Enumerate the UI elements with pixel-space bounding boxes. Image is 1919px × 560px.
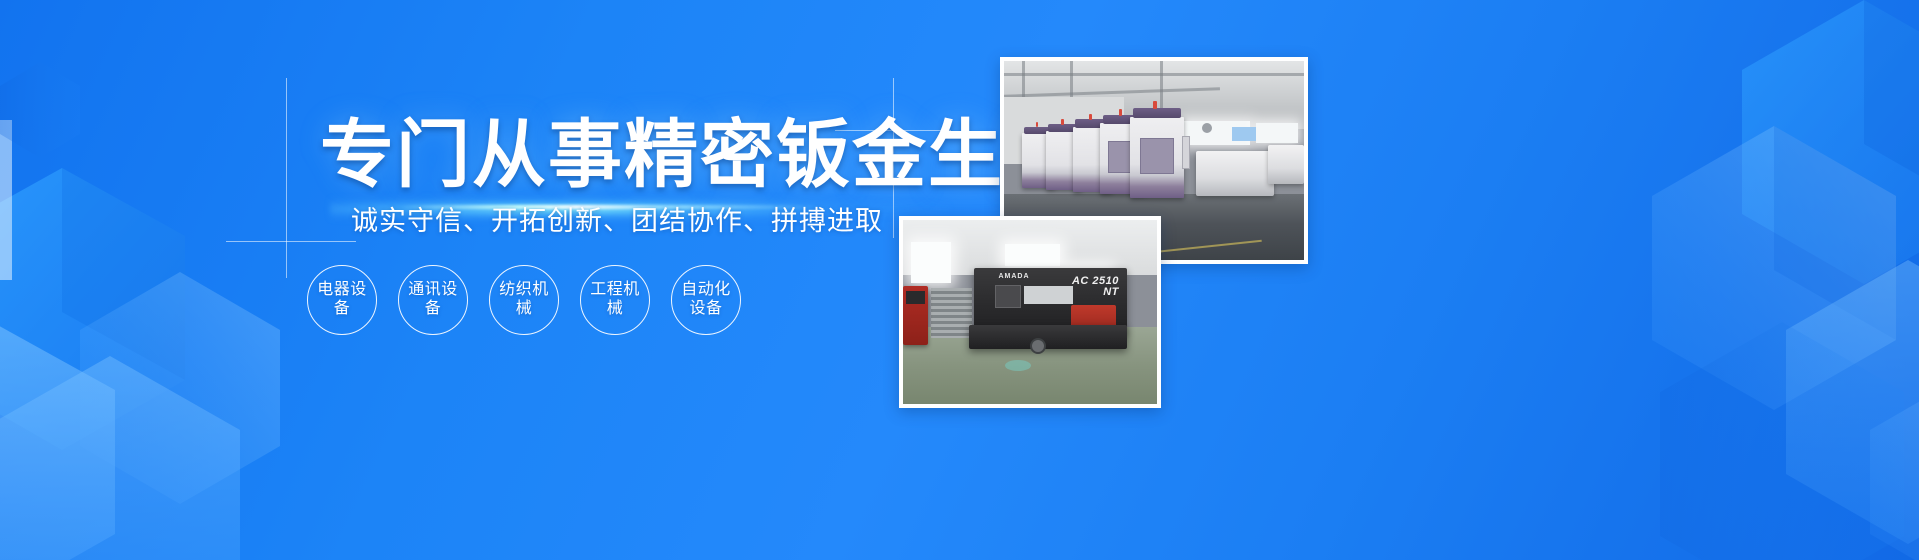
factory-window	[1005, 244, 1061, 266]
ceiling-column	[1070, 61, 1073, 101]
cnc-machine	[1196, 151, 1274, 197]
press-base	[969, 325, 1126, 349]
ceiling-lamp	[1202, 123, 1212, 133]
machine-wheel	[1030, 338, 1046, 354]
machine-brand-label: AMADA	[998, 273, 1029, 280]
cnc-machine	[1130, 117, 1184, 199]
badge-item[interactable]: 通讯设备	[398, 265, 468, 335]
factory-window	[1256, 123, 1298, 143]
badge-item[interactable]: 自动化设备	[671, 265, 741, 335]
floor-object	[1005, 360, 1031, 371]
badge-item[interactable]: 电器设备	[307, 265, 377, 335]
control-cabinet	[903, 286, 928, 345]
parts-rack	[931, 288, 972, 338]
photo-punch-press-image: AMADA AC 2510NT	[903, 220, 1157, 404]
ceiling-beam	[1004, 73, 1304, 76]
cnc-machine	[1268, 145, 1304, 185]
badge-list: 电器设备 通讯设备 纺织机械 工程机械 自动化设备	[307, 265, 741, 335]
subtitle: 诚实守信、开拓创新、团结协作、拼搏进取	[351, 205, 883, 237]
badge-item[interactable]: 工程机械	[580, 265, 650, 335]
factory-window	[911, 242, 952, 282]
machine-model-label: AC 2510NT	[1072, 276, 1119, 299]
badge-item[interactable]: 纺织机械	[489, 265, 559, 335]
photo-amada-turret-punch-press: AMADA AC 2510NT	[899, 216, 1161, 408]
factory-window	[1232, 127, 1256, 141]
promo-banner: 专门从事精密钣金生产加工 诚实守信、开拓创新、团结协作、拼搏进取 电器设备 通讯…	[0, 0, 1919, 560]
